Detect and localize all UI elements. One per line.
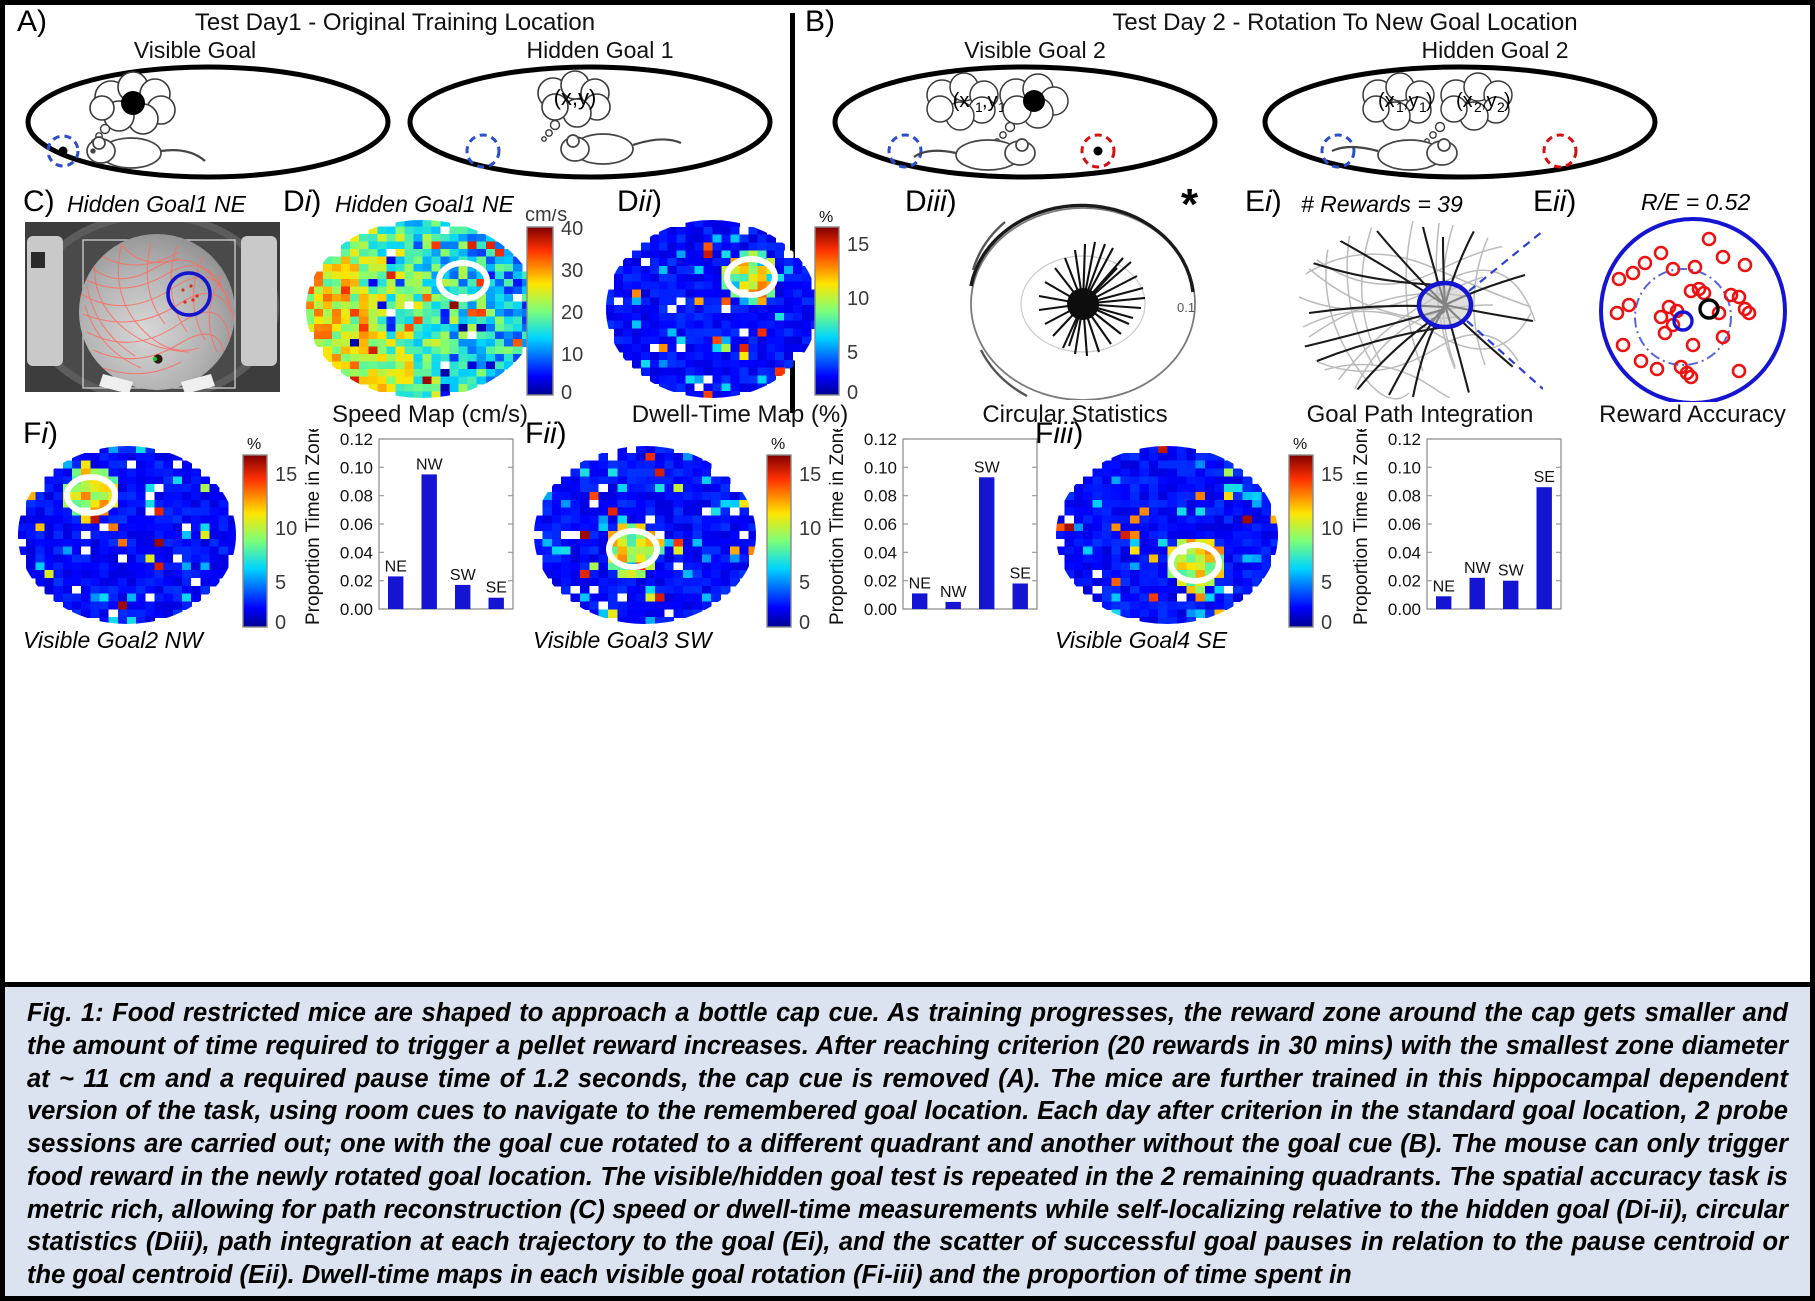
y-tick-label: 0.08: [864, 487, 897, 506]
y-tick-label: 0.10: [864, 458, 897, 477]
y-tick-label: 0.08: [1388, 487, 1421, 506]
vector-origin-blob: [1067, 288, 1099, 320]
bar-category-label: NE: [385, 558, 407, 575]
panel-ei-title: # Rewards = 39: [1301, 191, 1463, 218]
svg-text:40: 40: [561, 218, 583, 240]
svg-text:10: 10: [275, 518, 297, 540]
panel-eii-reward-accuracy: [1573, 217, 1815, 402]
panel-eii-letter-roman: ii: [1553, 185, 1566, 218]
mouse-marker-green: [153, 357, 157, 361]
fiii-bar-series: NENWSWSE: [1433, 469, 1555, 609]
bar: [422, 474, 437, 609]
svg-text:0: 0: [561, 382, 572, 401]
bright-wall-right: [241, 236, 277, 366]
radius-tick-label: 0.1: [1177, 300, 1195, 315]
y-tick-label: 0.00: [864, 600, 897, 619]
panel-fi-caption: Visible Goal2 NW: [23, 627, 203, 654]
colorbar-gradient: [815, 227, 839, 395]
panel-di-speed-map: [305, 219, 540, 399]
panel-fiii-bar-chart: Proportion Time in Zone 0.120.100.080.06…: [1353, 429, 1565, 633]
y-tick-label: 0.06: [340, 515, 373, 534]
panel-fiii-caption: Visible Goal4 SE: [1055, 627, 1227, 654]
panel-fi-dwell-map: [17, 445, 237, 625]
colorbar-unit-label: %: [771, 436, 785, 453]
goal-cue-dot-in-bubble: [1023, 90, 1045, 112]
svg-text:30: 30: [561, 260, 583, 282]
figure-1: A) Test Day1 - Original Training Locatio…: [0, 0, 1815, 1301]
panel-dii-letter-roman: ii: [639, 185, 652, 218]
speed-map-bins: [305, 219, 540, 399]
bar: [489, 598, 504, 609]
colorbar-unit-label: %: [247, 436, 261, 453]
panel-fi-bar-chart: Proportion Time in Zone 0.120.100.080.06…: [305, 429, 517, 633]
y-tick-label: 0.00: [340, 600, 373, 619]
panel-ei-path-integration: [1293, 217, 1543, 402]
panel-fii-bar-chart: Proportion Time in Zone 0.120.100.080.06…: [829, 429, 1041, 633]
svg-text:0: 0: [1321, 612, 1332, 633]
visible-cue-dot: [1094, 147, 1103, 156]
panel-dii-dwell-map: [605, 219, 820, 399]
panel-fii-caption: Visible Goal3 SW: [533, 627, 712, 654]
bar-category-label: NW: [416, 456, 444, 473]
panel-dii-letter-paren: ): [652, 185, 662, 218]
colorbar-ticks: 151050: [799, 464, 821, 633]
reward-zone-blue-dashed: [467, 135, 499, 167]
svg-text:15: 15: [275, 464, 297, 486]
colorbar-ticks: 151050: [1321, 464, 1343, 633]
svg-text:,y: ,y: [1481, 90, 1497, 112]
panel-dii-letter: Dii): [617, 185, 662, 219]
y-tick-label: 0.06: [1388, 515, 1421, 534]
colorbar-gradient: [527, 227, 553, 395]
bar: [1537, 487, 1552, 609]
panel-dii-colorbar: % 15 10 5 0: [811, 209, 897, 401]
bar-category-label: NW: [940, 584, 968, 601]
y-tick-label: 0.10: [1388, 458, 1421, 477]
panel-di-colorbar: cm/s 40 30 20 10 0: [523, 209, 615, 401]
colorbar-gradient: [243, 455, 267, 627]
thought-coordinates: (x,y): [554, 85, 597, 110]
reward-zone-blue-dashed: [1322, 135, 1354, 167]
mean-vector-arc: [971, 205, 1193, 292]
panel-ei-letter-roman: i: [1265, 185, 1272, 218]
panel-c-title: Hidden Goal1 NE: [67, 191, 246, 218]
y-tick-label: 0.02: [340, 572, 373, 591]
svg-text:): ): [1426, 90, 1433, 112]
bar-category-label: SE: [486, 580, 507, 597]
panel-diii-significance-star: *: [1181, 183, 1198, 227]
panel-di-letter: Di): [283, 185, 321, 219]
panel-diii-letter-paren: ): [947, 185, 957, 218]
panel-eii-title: R/E = 0.52: [1641, 189, 1750, 216]
fii-bar-ylabel: Proportion Time in Zone: [829, 429, 848, 625]
fiii-bar-ylabel: Proportion Time in Zone: [1353, 429, 1372, 625]
y-tick-label: 0.06: [864, 515, 897, 534]
bar-category-label: SE: [1010, 566, 1031, 583]
bar-category-label: SW: [974, 459, 1001, 476]
panel-eii-letter: Eii): [1533, 185, 1576, 219]
panel-a-visible-goal-arena: [23, 63, 393, 181]
bar: [388, 576, 403, 609]
panel-b-hidden-goal2-arena: (x 1 ,y 1 ) (x 2 ,y 2 ): [1260, 63, 1660, 181]
panel-a-hidden-goal-arena: (x,y): [405, 63, 775, 181]
bar: [1503, 581, 1518, 609]
panel-c-letter: C): [23, 185, 55, 219]
bar: [912, 593, 927, 609]
colorbar-unit-label: %: [819, 209, 833, 226]
svg-text:0: 0: [847, 382, 858, 401]
y-tick-label: 0.02: [1388, 572, 1421, 591]
panel-a-left-subtitle: Visible Goal: [75, 37, 315, 64]
fi-bar-series: NENWSWSE: [385, 456, 507, 609]
panel-di-title: Hidden Goal1 NE: [335, 191, 514, 218]
goal-cue-dot-in-bubble: [121, 91, 145, 115]
svg-text:15: 15: [799, 464, 821, 486]
panel-diii-circular-statistics: 0.1: [965, 200, 1215, 400]
bar: [1436, 596, 1451, 609]
y-tick-label: 0.12: [340, 430, 373, 449]
panel-di-letter-paren: ): [311, 185, 321, 218]
svg-text:,y: ,y: [982, 90, 998, 112]
y-tick-label: 0.04: [1388, 543, 1421, 562]
colorbar-unit-label: %: [1293, 436, 1307, 453]
y-tick-label: 0.04: [864, 543, 897, 562]
arena-outline: [28, 67, 388, 177]
zoom-connector-bottom: [1467, 321, 1543, 389]
svg-text:10: 10: [561, 344, 583, 366]
panel-b-title: Test Day 2 - Rotation To New Goal Locati…: [895, 9, 1795, 37]
svg-text:): ): [1504, 90, 1511, 112]
thought-coordinates-1: (x: [953, 90, 970, 112]
panel-dii-letter-text: D: [617, 185, 639, 218]
figure-caption-text: Fig. 1: Food restricted mice are shaped …: [5, 982, 1810, 1296]
svg-text:15: 15: [1321, 464, 1343, 486]
svg-text:(x: (x: [1378, 90, 1395, 112]
bar-category-label: NE: [1433, 578, 1455, 595]
svg-text:0: 0: [799, 612, 810, 633]
bar: [946, 602, 961, 609]
fii-bar-series: NENWSWSE: [909, 459, 1031, 609]
colorbar-ticks: 15 10 5 0: [847, 234, 869, 401]
panel-ei-letter-text: E: [1245, 185, 1265, 218]
reward-pause-scatter: [1611, 233, 1755, 383]
figure-caption-block: Fig. 1: Food restricted mice are shaped …: [5, 982, 1810, 1296]
svg-text:5: 5: [799, 572, 810, 594]
bar-category-label: SE: [1534, 469, 1555, 486]
panel-eii-letter-text: E: [1533, 185, 1553, 218]
colorbar-ticks: 40 30 20 10 0: [561, 218, 583, 401]
svg-text:5: 5: [1321, 572, 1332, 594]
svg-text:10: 10: [847, 288, 869, 310]
thought-tail: [542, 121, 560, 142]
svg-text:(x: (x: [1456, 90, 1473, 112]
colorbar-ticks: 151050: [275, 464, 297, 633]
fi-bar-ylabel: Proportion Time in Zone: [305, 429, 324, 625]
panel-fii-dwell-map: [533, 445, 758, 625]
reward-zone-red-dashed: [1544, 135, 1576, 167]
panel-eii-letter-paren: ): [1566, 185, 1576, 218]
svg-text:,y: ,y: [1403, 90, 1419, 112]
y-tick-label: 0.04: [340, 543, 373, 562]
panel-a-right-subtitle: Hidden Goal 1: [465, 37, 735, 64]
y-tick-label: 0.12: [1388, 430, 1421, 449]
bar-category-label: NW: [1464, 560, 1492, 577]
svg-text:15: 15: [847, 234, 869, 256]
bar: [1013, 584, 1028, 610]
y-tick-label: 0.00: [1388, 600, 1421, 619]
y-tick-label: 0.10: [340, 458, 373, 477]
colorbar-gradient: [767, 455, 791, 627]
panel-b-left-subtitle: Visible Goal 2: [885, 37, 1185, 64]
panel-b-right-subtitle: Hidden Goal 2: [1325, 37, 1665, 64]
panel-a-letter: A): [17, 5, 47, 39]
mouse-icon: [561, 134, 681, 164]
panel-fiii-letter-text: F: [1035, 417, 1053, 450]
svg-text:10: 10: [1321, 518, 1343, 540]
svg-text:5: 5: [847, 342, 858, 364]
error-radius-dashdot: [1635, 269, 1731, 365]
svg-text:20: 20: [561, 302, 583, 324]
panel-di-letter-text: D: [283, 185, 305, 218]
panel-diii-letter-text: D: [905, 185, 927, 218]
y-tick-label: 0.02: [864, 572, 897, 591]
panel-ei-caption: Goal Path Integration: [1270, 401, 1570, 429]
panel-b-visible-goal2-arena: (x 1 ,y 1 ): [830, 63, 1220, 181]
svg-text:10: 10: [799, 518, 821, 540]
panel-fiii-dwell-map: [1055, 445, 1280, 625]
visible-cue-dot: [59, 147, 68, 156]
y-tick-label: 0.08: [340, 487, 373, 506]
bar: [979, 477, 994, 609]
bar: [455, 585, 470, 609]
colorbar-gradient: [1289, 455, 1313, 627]
bar-category-label: SW: [1498, 563, 1525, 580]
panel-dii-caption: Dwell-Time Map (%): [595, 401, 885, 429]
svg-text:5: 5: [275, 572, 286, 594]
bar-category-label: SW: [450, 567, 477, 584]
panel-diii-letter: Diii): [905, 185, 957, 219]
panel-ei-letter: Ei): [1245, 185, 1282, 219]
bar: [1470, 578, 1485, 609]
panel-di-caption: Speed Map (cm/s): [305, 401, 555, 429]
svg-text:0: 0: [275, 612, 286, 633]
mouse-icon: [87, 137, 205, 168]
panel-ei-letter-paren: ): [1272, 185, 1282, 218]
panel-diii-letter-roman: iii: [927, 185, 947, 218]
panel-b-letter: B): [805, 5, 835, 39]
panel-a-title: Test Day1 - Original Training Location: [115, 9, 675, 37]
panel-eii-caption: Reward Accuracy: [1565, 401, 1815, 429]
mouse-icon: [914, 139, 1035, 170]
panel-c-arena-photo: [25, 222, 280, 392]
bar-category-label: NE: [909, 575, 931, 592]
y-tick-label: 0.12: [864, 430, 897, 449]
